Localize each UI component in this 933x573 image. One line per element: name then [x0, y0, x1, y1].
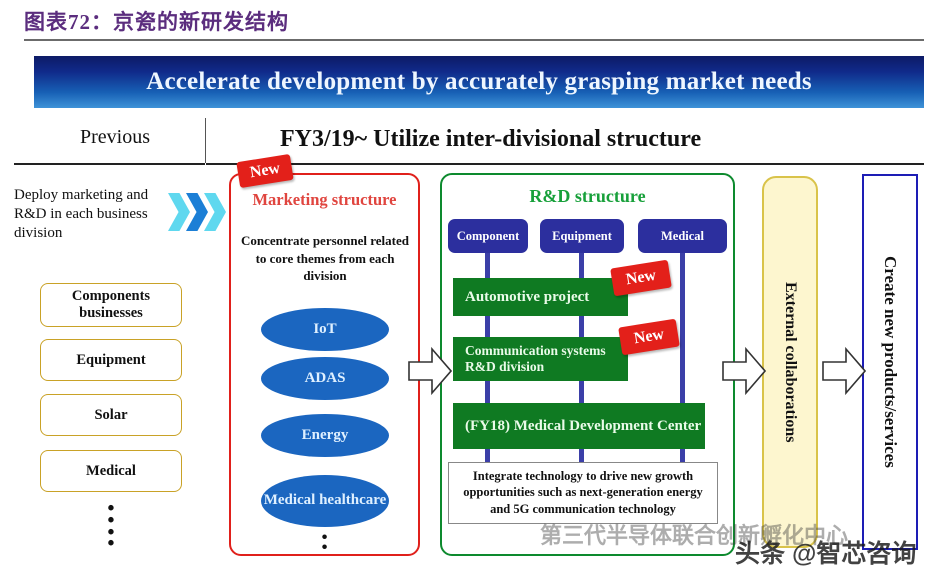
deploy-description: Deploy marketing and R&D in each busines…	[14, 186, 174, 242]
rd-integration-note: Integrate technology to drive new growth…	[448, 462, 718, 524]
rd-structure-title: R&D structure	[440, 186, 735, 207]
marketing-theme-ellipse[interactable]: ADAS	[261, 357, 389, 400]
rd-division-header[interactable]: Medical	[638, 219, 727, 253]
watermark-secondary: 头条 @智芯咨询	[735, 534, 916, 570]
arrow-right-icon	[408, 346, 452, 396]
heading-rule-right	[206, 163, 924, 165]
banner-text: Accelerate development by accurately gra…	[146, 68, 812, 96]
rd-project-bar[interactable]: Automotive project	[453, 278, 628, 316]
rd-project-bar[interactable]: Communication systems R&D division	[453, 337, 628, 381]
previous-division-box[interactable]: Medical	[40, 450, 182, 492]
marketing-theme-ellipse[interactable]: Energy	[261, 414, 389, 457]
title-divider	[24, 39, 924, 41]
arrow-right-icon	[822, 346, 866, 396]
marketing-theme-ellipse[interactable]: Medical healthcare	[261, 475, 389, 527]
banner: Accelerate development by accurately gra…	[34, 56, 924, 108]
create-products-label: Create new products/services	[862, 174, 918, 550]
column-divider	[205, 118, 206, 163]
fiscal-heading: FY3/19~ Utilize inter-divisional structu…	[280, 126, 701, 153]
arrow-right-icon	[722, 346, 766, 396]
page-title: 图表72：京瓷的新研发结构	[24, 6, 289, 36]
marketing-structure-description: Concentrate personnel related to core th…	[236, 232, 414, 285]
marketing-theme-ellipse[interactable]: IoT	[261, 308, 389, 351]
chevron-group	[168, 193, 230, 231]
external-collaborations-label: External collaborations	[762, 176, 818, 548]
previous-division-box[interactable]: Components businesses	[40, 283, 182, 327]
marketing-structure-title: Marketing structure	[229, 190, 420, 210]
chevron-right-icon	[168, 193, 190, 231]
previous-division-box[interactable]: Equipment	[40, 339, 182, 381]
previous-ellipsis: ••••	[40, 503, 182, 550]
heading-rule-left	[14, 163, 205, 165]
figure-page: 图表72：京瓷的新研发结构 Accelerate development by …	[0, 0, 933, 573]
marketing-ellipsis: ••	[229, 533, 420, 553]
rd-division-header[interactable]: Component	[448, 219, 528, 253]
previous-heading: Previous	[40, 126, 190, 149]
rd-division-header[interactable]: Equipment	[540, 219, 624, 253]
rd-project-bar[interactable]: (FY18) Medical Development Center	[453, 403, 705, 449]
previous-division-box[interactable]: Solar	[40, 394, 182, 436]
